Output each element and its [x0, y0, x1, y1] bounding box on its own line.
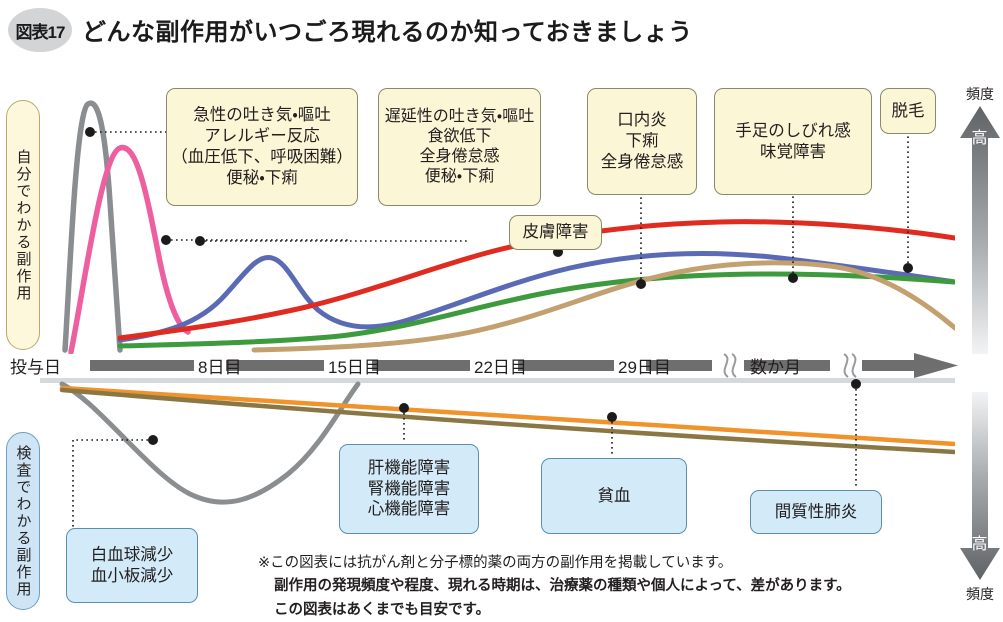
- frequency-axis-top: 頻度 高: [958, 84, 1002, 354]
- timeline-axis: 投与日 8日目 15日目 22日目 29日目 数か月: [6, 352, 966, 380]
- callout-line: 遅延性の吐き気・嘔吐: [385, 107, 534, 127]
- callout-line: 心機能障害: [368, 499, 451, 520]
- page-title: どんな副作用がいつごろ現れるのか知っておきましょう: [82, 12, 693, 47]
- break-mark: [844, 354, 848, 377]
- break-mark: [724, 354, 728, 377]
- marker-wbc: [148, 435, 158, 445]
- frequency-level-top: 高: [958, 124, 1002, 148]
- callout-delayed-symptoms[interactable]: 遅延性の吐き気・嘔吐 食欲低下 全身倦怠感 便秘・下痢: [378, 88, 541, 206]
- frequency-axis-bottom: 高 頻度: [958, 392, 1002, 612]
- timeline-tick-label: 8日目: [198, 358, 241, 377]
- callout-line: 味覚障害: [760, 142, 826, 163]
- timeline-arrowhead: [914, 353, 958, 378]
- header: 図表17 どんな副作用がいつごろ現れるのか知っておきましょう: [0, 0, 1003, 62]
- plot-bottom-rail: [40, 378, 955, 383]
- marker-acute: [85, 127, 95, 137]
- callout-interstitial-pneumonia[interactable]: 間質性肺炎: [750, 490, 882, 534]
- callout-line: 全身倦怠感: [601, 152, 684, 173]
- curve-skin-green: [120, 274, 955, 346]
- timeline-bar: [518, 360, 614, 371]
- marker-organ: [399, 403, 409, 413]
- curve-pneumonitis-darktan: [62, 390, 955, 452]
- timeline-tick-label: 22日目: [474, 358, 527, 377]
- break-mark: [852, 354, 856, 377]
- callout-line: 急性の吐き気・嘔吐: [193, 105, 331, 126]
- footnote-line-2: 副作用の発現頻度や程度、現れる時期は、治療薬の種類や個人によって、差があります。: [258, 575, 958, 598]
- callout-line: 貧血: [598, 486, 631, 507]
- break-mark: [732, 354, 736, 377]
- callout-line: 便秘・下痢: [226, 168, 298, 189]
- callout-mucositis[interactable]: 口内炎 下痢 全身倦怠感: [587, 88, 697, 195]
- callout-line: 脱毛: [892, 101, 925, 122]
- marker-mouth: [636, 279, 646, 289]
- marker-allergy: [161, 235, 171, 245]
- callout-line: 食欲低下: [427, 127, 491, 147]
- frequency-title-top: 頻度: [958, 84, 1002, 104]
- callout-neuropathy[interactable]: 手足のしびれ感 味覚障害: [714, 88, 872, 195]
- marker-numb: [788, 273, 798, 283]
- timeline-tick-label: 投与日: [10, 358, 61, 377]
- callout-acute-symptoms[interactable]: 急性の吐き気・嘔吐 アレルギー反応 （血圧低下、呼吸困難） 便秘・下痢: [166, 88, 358, 206]
- callout-line: 間質性肺炎: [775, 502, 858, 523]
- timeline-bar: [90, 360, 194, 371]
- marker-anemia: [607, 412, 617, 422]
- callout-line: （血圧低下、呼吸困難）: [171, 147, 353, 168]
- footnote-line-3: この図表はあくまでも目安です。: [258, 599, 958, 622]
- curve-organ-orange: [62, 388, 955, 444]
- callout-line: 腎機能障害: [368, 479, 451, 500]
- figure-badge: 図表17: [8, 8, 72, 52]
- section-label-self-aware: 自分でわかる副作用: [6, 100, 40, 350]
- callout-line: 皮膚障害: [523, 222, 589, 243]
- frequency-level-bottom: 高: [958, 530, 1002, 554]
- callout-organ-dysfunction[interactable]: 肝機能障害 腎機能障害 心機能障害: [339, 444, 479, 534]
- footnote-line-1: ※この図表には抗がん剤と分子標的薬の両方の副作用を掲載しています。: [258, 552, 958, 575]
- callout-line: 便秘・下痢: [425, 167, 494, 187]
- callout-hair-loss[interactable]: 脱毛: [880, 88, 936, 134]
- callout-line: アレルギー反応: [204, 126, 320, 147]
- callout-line: 血小板減少: [91, 566, 174, 587]
- callout-line: 全身倦怠感: [419, 147, 499, 167]
- timeline-tick-label: 数か月: [750, 358, 801, 377]
- marker-ip: [851, 379, 861, 389]
- timeline-tick-label: 15日目: [328, 358, 381, 377]
- callout-line: 下痢: [626, 131, 659, 152]
- callout-anemia[interactable]: 貧血: [541, 458, 687, 534]
- callout-line: 口内炎: [617, 110, 667, 131]
- timeline-bar: [372, 360, 470, 371]
- section-label-test-detected: 検査でわかる副作用: [6, 432, 40, 610]
- callout-line: 肝機能障害: [368, 458, 451, 479]
- callout-line: 白血球減少: [91, 545, 174, 566]
- callout-line: 手足のしびれ感: [735, 121, 851, 142]
- callout-skin-disorder[interactable]: 皮膚障害: [509, 215, 602, 250]
- footnote: ※この図表には抗がん剤と分子標的薬の両方の副作用を掲載しています。 副作用の発現…: [258, 552, 958, 622]
- curve-markers-bottom: [148, 379, 861, 445]
- timeline-tick-label: 29日目: [618, 358, 671, 377]
- callout-blood-count-decrease[interactable]: 白血球減少 血小板減少: [66, 528, 198, 603]
- marker-hair: [903, 263, 913, 273]
- frequency-title-bottom: 頻度: [958, 584, 1002, 604]
- timeline-bar: [862, 360, 916, 371]
- marker-delayed: [195, 236, 205, 246]
